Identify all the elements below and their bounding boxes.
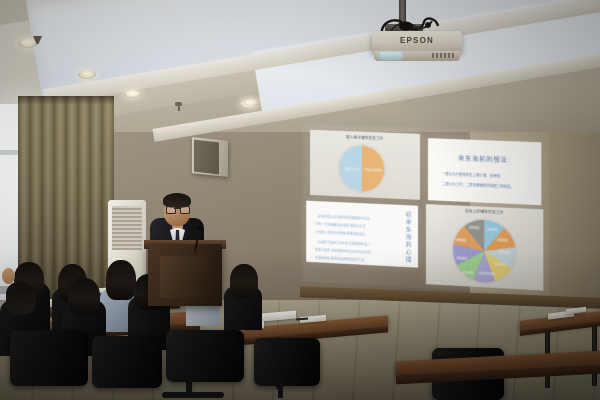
audience-member-face [2, 268, 15, 284]
chair [166, 330, 244, 382]
microphone-icon [197, 226, 202, 231]
slide-feelings-line: 来到这里之后,我发现现实跟想象中完全 [318, 213, 370, 220]
projected-slide-area: 属人单中辅导员的工作 辅导员工作 学生日常事务 来东海前的想法: 一是以为只是带… [302, 124, 549, 295]
air-conditioner-grille [112, 206, 142, 250]
downlight-icon [243, 98, 259, 106]
pie-label: 日常事务 [498, 250, 510, 255]
pie-label: 学生资助问题 [478, 271, 495, 276]
sprinkler-icon [175, 102, 182, 106]
chair [92, 336, 162, 388]
pie-label: 辅导员工作 [345, 167, 360, 172]
slide-thoughts-title: 来东海前的想法: [428, 152, 541, 166]
slide-pie-nine-title: 实际上的辅导员的工作 [426, 207, 543, 217]
projector-brand-label: EPSON [372, 33, 462, 47]
slide-pie-nine: 实际上的辅导员的工作 思想教育 班级管理 日常事务 心理健康 学生资助问题 就业… [426, 204, 543, 290]
pie-label: 学风建设 [455, 238, 467, 243]
slide-feelings-line: 不同,一天到晚事情多得很,琐碎又杂,压 [315, 221, 366, 228]
speaker-mesh-icon [194, 140, 219, 175]
audience-member-hair [6, 282, 36, 314]
slide-feelings-line: 但是刚开始的工作状态,我慢慢地学会了 [318, 239, 370, 247]
slide-feelings-line: 步变得成熟,更多的是我愿意坚持下去。 [315, 254, 367, 262]
audience-member-hair [106, 260, 136, 300]
chair-base [162, 392, 224, 398]
pie-label: 班级管理 [496, 238, 508, 243]
slide-pie-two-title: 属人单中辅导员的工作 [310, 134, 420, 143]
lecture-hall-photo: EPSON 属人单中辅导员的工作 辅导员工作 学生日常事务 来东海前的想法: 一… [0, 0, 600, 400]
podium-front-panel [160, 256, 208, 298]
glasses-icon [166, 206, 188, 212]
curtain-top-shadow [18, 96, 114, 105]
projector-vent [432, 53, 454, 58]
audience-member-hair [230, 264, 258, 298]
downlight-icon [124, 90, 141, 98]
downlight-icon [78, 70, 96, 79]
slide-thoughts-line: 二是以为工作、二是觉得辅导员就是工作轻松。 [442, 181, 514, 189]
slide-thoughts-line: 一是以为只是带学生上课下课、查考勤; [442, 171, 501, 178]
pie-label: 安全稳定 [468, 225, 480, 230]
slide-feelings-line: 力也很大,常常忙到很晚,需要慢慢适应。 [315, 229, 368, 237]
chair [10, 330, 88, 386]
pie-label: 思想教育 [486, 227, 498, 232]
pie-label: 党团建设 [456, 256, 468, 261]
slide-feelings-vertical-title: 初来东海的心理 [403, 211, 412, 264]
pie-label: 学生日常事务 [365, 168, 383, 173]
slide-text-thoughts: 来东海前的想法: 一是以为只是带学生上课下课、查考勤; 二是以为工作、二是觉得辅… [428, 138, 541, 205]
slide-pie-two: 属人单中辅导员的工作 辅导员工作 学生日常事务 [310, 130, 420, 200]
pie-label: 就业指导 [462, 270, 474, 275]
pie-label: 心理健康 [494, 262, 506, 267]
chair-post [278, 378, 283, 398]
audience-member-hair [68, 278, 100, 316]
projector-lens [380, 52, 402, 59]
slide-feelings-line: 取舍与坚持,也慢慢看到学生成长的点滴,逐 [315, 246, 371, 254]
chair [254, 338, 320, 386]
slide-text-feelings: 初来东海的心理 来到这里之后,我发现现实跟想象中完全 不同,一天到晚事情多得很,… [306, 201, 418, 268]
